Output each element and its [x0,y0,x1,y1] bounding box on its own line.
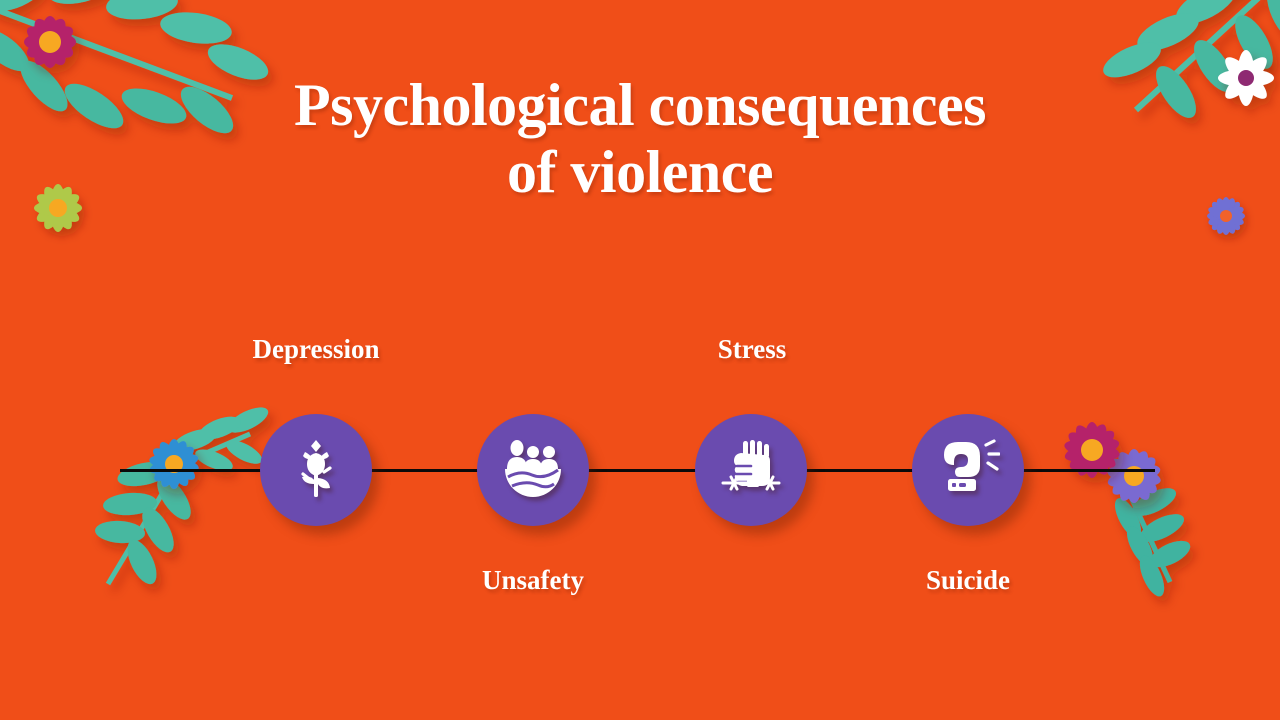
timeline-label-stress: Stress [622,334,882,365]
timeline-node-unsafety[interactable] [477,414,589,526]
boxing-glove-icon [936,439,1000,502]
timeline-label-depression: Depression [186,334,446,365]
timeline-node-suicide[interactable] [912,414,1024,526]
timeline-label-unsafety: Unsafety [403,565,663,596]
wilting-flower-icon [293,437,339,504]
timeline-node-stress[interactable] [695,414,807,526]
timeline-node-depression[interactable] [260,414,372,526]
slide-canvas: Psychological consequences of violence [0,0,1280,720]
timeline-diagram: Depression Unsafety Stress Suicide [0,0,1280,720]
fist-barbed-wire-icon [721,439,781,502]
timeline-label-suicide: Suicide [838,565,1098,596]
family-group-icon [502,439,564,502]
